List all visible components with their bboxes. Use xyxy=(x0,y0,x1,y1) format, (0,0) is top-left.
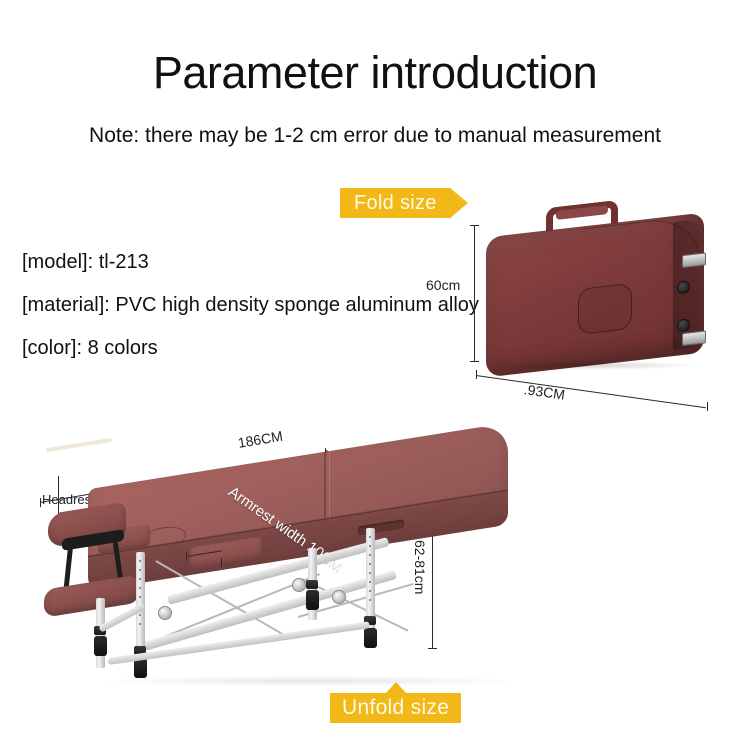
fold-size-banner: Fold size xyxy=(340,188,451,218)
case-height-tick-bottom xyxy=(470,361,479,362)
leg-adjust-holes xyxy=(139,560,141,626)
case-height-tick-top xyxy=(470,225,479,226)
case-latch-top xyxy=(682,252,706,268)
unfold-size-label: Unfold size xyxy=(342,696,449,720)
case-length-tick-right xyxy=(707,402,708,411)
frame-joint-left xyxy=(158,606,172,620)
spec-color: [color]: 8 colors xyxy=(22,338,492,358)
face-cradle-stripe xyxy=(46,438,112,452)
height-tick-bottom xyxy=(428,648,437,649)
armrest-tick-left xyxy=(186,552,187,561)
unfold-size-banner: Unfold size xyxy=(330,693,461,723)
page-title: Parameter introduction xyxy=(0,50,750,95)
leg-foot-rear-left xyxy=(94,636,107,656)
frame-joint-right xyxy=(332,590,346,604)
leg-foot-rear-right xyxy=(306,590,319,610)
spec-material: [material]: PVC high density sponge alum… xyxy=(22,295,492,315)
case-latch-bottom xyxy=(682,330,706,346)
case-length-line xyxy=(476,375,706,408)
leg-foot-front-right xyxy=(364,628,377,648)
case-length-tick-left xyxy=(476,370,477,379)
spec-model: [model]: tl-213 xyxy=(22,252,492,272)
fold-size-label: Fold size xyxy=(354,192,437,215)
case-height-label: 60cm xyxy=(426,277,460,293)
unfolded-table-illustration: 186CM .60CM 62-81cm Headrest length27cm xyxy=(40,430,620,700)
infographic-canvas: Parameter introduction Note: there may b… xyxy=(0,0,750,755)
length-tick-left xyxy=(40,498,41,507)
case-length-label: .93CM xyxy=(523,381,566,403)
leg-adjust-holes-right xyxy=(369,536,371,606)
height-label: 62-81cm xyxy=(412,540,428,594)
armrest-tick-right xyxy=(221,558,222,567)
spec-list: [model]: tl-213 [material]: PVC high den… xyxy=(22,252,492,381)
folded-case-illustration: 60cm .93CM xyxy=(468,205,738,390)
leg-collar-rear-right xyxy=(306,580,318,589)
case-height-line xyxy=(474,225,475,361)
length-label: 186CM xyxy=(237,428,284,451)
measurement-note: Note: there may be 1-2 cm error due to m… xyxy=(0,125,750,146)
frame-joint-mid xyxy=(292,578,306,592)
case-body xyxy=(486,213,704,378)
table-floor-shadow xyxy=(100,676,520,686)
case-hand-hole xyxy=(578,283,632,335)
case-shadow xyxy=(485,361,704,370)
carry-strap xyxy=(358,519,404,535)
